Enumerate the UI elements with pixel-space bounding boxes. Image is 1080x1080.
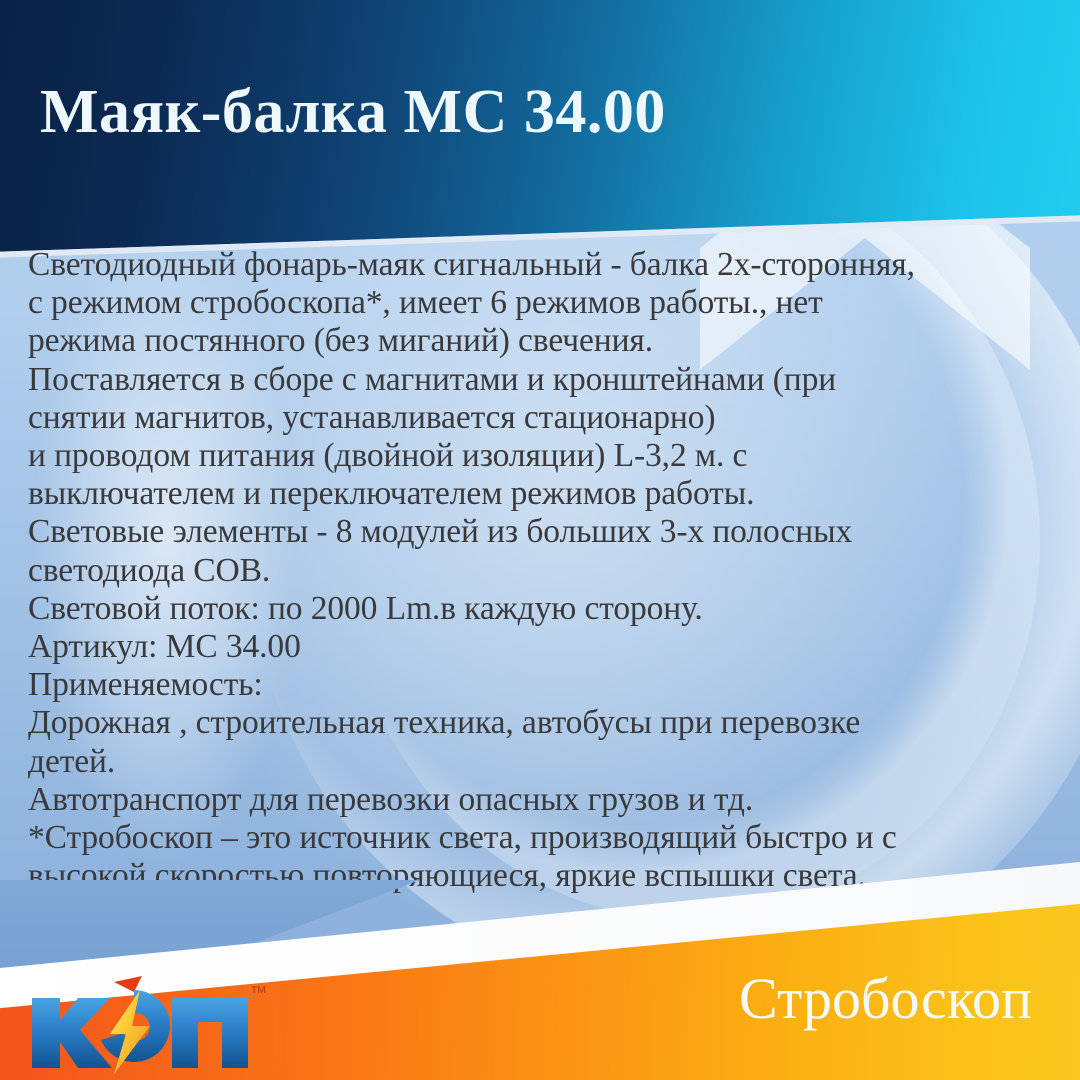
description-line: светодиода COB. [28, 552, 1058, 590]
description-line: Дорожная , строительная техника, автобус… [28, 704, 1058, 742]
description-line: Поставляется в сборе с магнитами и кронш… [28, 361, 1058, 399]
description-line: снятии магнитов, устанавливается стацион… [28, 399, 1058, 437]
description-line: Артикул: МС 34.00 [28, 628, 1058, 666]
description-line: Световой поток: по 2000 Lm.в каждую стор… [28, 590, 1058, 628]
description-line: Световые элементы - 8 модулей из больших… [28, 513, 1058, 551]
strobe-caption: Стробоскоп [739, 970, 1032, 1028]
kep-logo[interactable]: ™ [22, 972, 272, 1076]
slide-root: Маяк-балка МС 34.00 Светодиодный фонарь-… [0, 0, 1080, 1080]
description-line: с режимом стробоскопа*, имеет 6 режимов … [28, 284, 1058, 322]
description-block: Светодиодный фонарь-маяк сигнальный - ба… [28, 246, 1058, 895]
page-title: Маяк-балка МС 34.00 [40, 80, 666, 145]
description-line: режима постянного (без миганий) свечения… [28, 322, 1058, 360]
description-line: и проводом питания (двойной изоляции) L-… [28, 437, 1058, 475]
description-line: Применяемость: [28, 666, 1058, 704]
description-line: *Стробоскоп – это источник света, произв… [28, 819, 1058, 857]
description-line: Светодиодный фонарь-маяк сигнальный - ба… [28, 246, 1058, 284]
description-line: детей. [28, 743, 1058, 781]
description-line: Автотранспорт для перевозки опасных груз… [28, 781, 1058, 819]
description-line: выключателем и переключателем режимов ра… [28, 475, 1058, 513]
logo-trademark: ™ [250, 983, 267, 1002]
